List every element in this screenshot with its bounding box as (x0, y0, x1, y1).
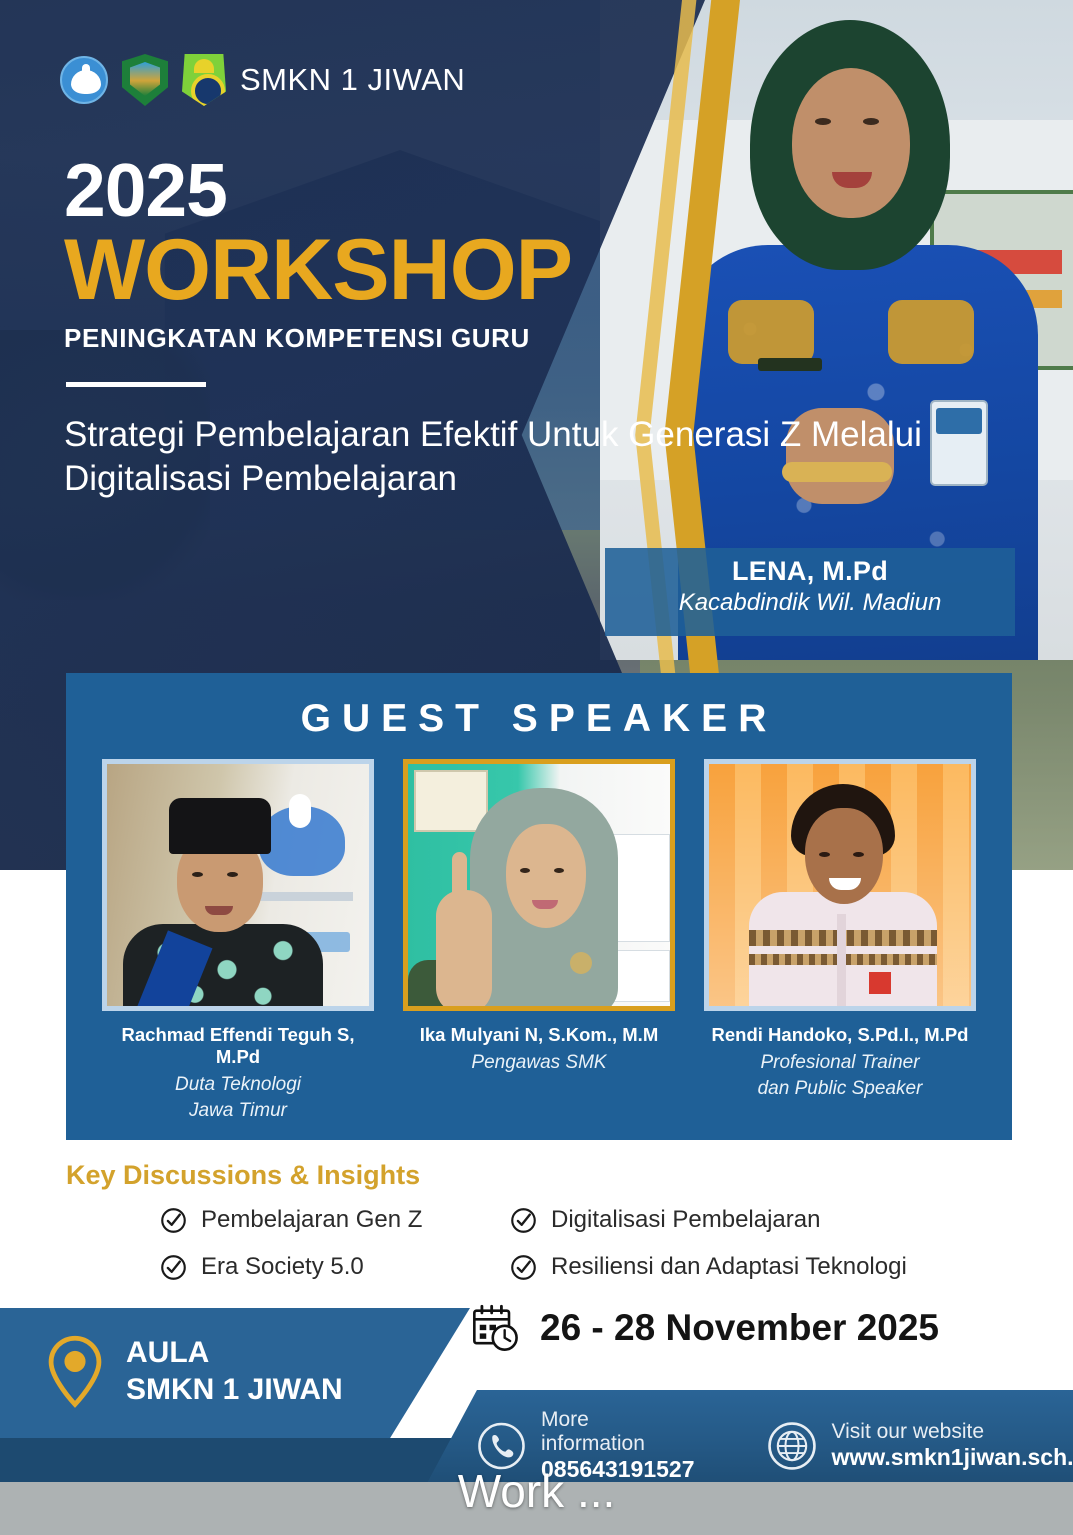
speaker3-shirt-logo (869, 972, 891, 994)
headline-divider (66, 382, 206, 387)
guest-speaker-photo-2 (403, 759, 675, 1011)
workshop-poster: LENA, M.Pd Kacabdindik Wil. Madiun SMKN … (0, 0, 1073, 1535)
speaker2-face (506, 824, 586, 928)
headline-main-title: WORKSHOP (64, 228, 1073, 312)
key-discussion-label: Digitalisasi Pembelajaran (551, 1206, 820, 1234)
key-discussion-label: Era Society 5.0 (201, 1253, 364, 1281)
speaker1-backdrop (107, 764, 369, 1006)
key-discussion-label: Resiliensi dan Adaptasi Teknologi (551, 1253, 907, 1281)
kemendikbud-logo-icon (60, 56, 108, 104)
headline-description: Strategi Pembelajaran Efektif Untuk Gene… (64, 413, 1073, 503)
speaker1-bg-logo-flame (289, 794, 311, 828)
guest-speaker-name-3: Rendi Handoko, S.Pd.I., M.Pd (704, 1024, 976, 1046)
guest-speaker-photo-3 (704, 759, 976, 1011)
guest-speaker-name-1: Rachmad Effendi Teguh S, M.Pd (102, 1024, 374, 1068)
speaker2-eye-left (520, 868, 530, 873)
east-java-province-logo-icon (122, 54, 168, 106)
speaker3-eye-left (819, 852, 830, 857)
speaker1-peci-cap (169, 798, 271, 854)
speaker2-brooch (570, 952, 592, 974)
main-speaker-name: LENA, M.Pd (605, 556, 1015, 587)
venue-text: AULA SMKN 1 JIWAN (126, 1335, 343, 1408)
calendar-clock-icon (470, 1302, 522, 1354)
key-discussion-item: Digitalisasi Pembelajaran (510, 1206, 1000, 1234)
brand-header: SMKN 1 JIWAN (60, 54, 465, 106)
speaker1-eye-left (192, 872, 203, 877)
headline-subtitle: PENINGKATAN KOMPETENSI GURU (64, 323, 1073, 354)
speaker2-raised-arm (436, 890, 492, 1011)
caption-overlay: Work ... (0, 1464, 1073, 1518)
guest-speaker-card: Rendi Handoko, S.Pd.I., M.Pd Profesional… (704, 759, 976, 1123)
speaker2-eye-right (554, 868, 564, 873)
location-pin-icon (46, 1334, 104, 1410)
check-circle-icon (160, 1254, 187, 1281)
guest-speaker-panel: GUEST SPEAKER (66, 673, 1012, 1140)
speaker3-eye-right (853, 852, 864, 857)
speaker1-bg-text (257, 892, 353, 901)
main-speaker-nameplate: LENA, M.Pd Kacabdindik Wil. Madiun (605, 548, 1015, 636)
key-discussions-title: Key Discussions & Insights (66, 1160, 420, 1191)
check-circle-icon (160, 1207, 187, 1234)
speaker2-wall-poster (414, 770, 488, 832)
key-discussions-section: Key Discussions & Insights Pembelajaran … (0, 1150, 1073, 1308)
guest-speaker-photo-1 (102, 759, 374, 1011)
guest-speaker-role-1: Duta TeknologiJawa Timur (102, 1072, 374, 1123)
portrait-eye-right (863, 118, 879, 125)
event-date-row: 26 - 28 November 2025 (470, 1302, 939, 1354)
portrait-eye-left (815, 118, 831, 125)
guest-speaker-role-2: Pengawas SMK (403, 1050, 675, 1076)
main-speaker-role: Kacabdindik Wil. Madiun (605, 589, 1015, 617)
guest-speaker-role-3: Profesional Trainerdan Public Speaker (704, 1050, 976, 1101)
event-date-text: 26 - 28 November 2025 (540, 1307, 939, 1349)
guest-speaker-name-2: Ika Mulyani N, S.Kom., M.M (403, 1024, 675, 1046)
contact-website-label: Visit our website (832, 1420, 1073, 1444)
key-discussion-item: Era Society 5.0 (160, 1253, 510, 1281)
school-name-label: SMKN 1 JIWAN (240, 62, 465, 98)
check-circle-icon (510, 1207, 537, 1234)
guest-speaker-title: GUEST SPEAKER (66, 673, 1012, 741)
guest-speaker-card: Ika Mulyani N, S.Kom., M.M Pengawas SMK (403, 759, 675, 1123)
smkn1jiwan-school-logo-icon (182, 54, 226, 106)
speaker3-shirt-placket (837, 914, 846, 1011)
guest-speaker-list: Rachmad Effendi Teguh S, M.Pd Duta Tekno… (66, 741, 1012, 1123)
speaker3-backdrop (709, 764, 971, 1006)
key-discussion-item: Pembelajaran Gen Z (160, 1206, 510, 1234)
check-circle-icon (510, 1254, 537, 1281)
key-discussion-item: Resiliensi dan Adaptasi Teknologi (510, 1253, 1000, 1281)
venue-line-1: AULA (126, 1335, 343, 1372)
speaker1-eye-right (227, 872, 238, 877)
contact-phone-label: More information (541, 1408, 696, 1456)
guest-speaker-card: Rachmad Effendi Teguh S, M.Pd Duta Tekno… (102, 759, 374, 1123)
key-discussions-grid: Pembelajaran Gen Z Digitalisasi Pembelaj… (160, 1206, 1000, 1281)
venue-line-2: SMKN 1 JIWAN (126, 1372, 343, 1409)
speaker2-backdrop (408, 764, 670, 1006)
venue-block: AULA SMKN 1 JIWAN (0, 1308, 470, 1438)
headline-year: 2025 (64, 155, 1073, 226)
key-discussion-label: Pembelajaran Gen Z (201, 1206, 422, 1234)
headline-block: 2025 WORKSHOP PENINGKATAN KOMPETENSI GUR… (64, 155, 1073, 502)
speaker2-pointing-finger (452, 852, 467, 904)
